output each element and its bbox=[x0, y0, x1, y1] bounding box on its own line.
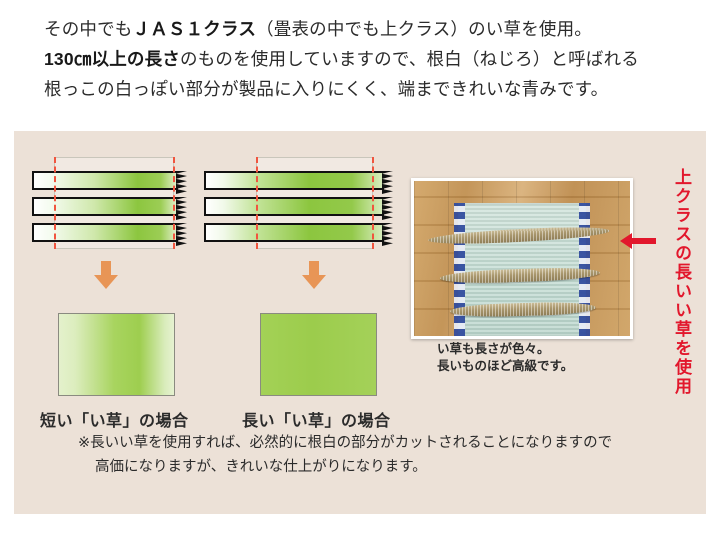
long-cut-line-right bbox=[372, 157, 374, 249]
arrow-head bbox=[94, 275, 118, 289]
short-cut-line-left bbox=[54, 157, 56, 249]
page-root: その中でもＪＡＳ１クラス（畳表の中でも上クラス）のい草を使用。 130㎝以上の長… bbox=[0, 0, 720, 534]
intro-line-2: 130㎝以上の長さのものを使用していますので、根白（ねじろ）と呼ばれる bbox=[44, 44, 684, 74]
intro-length-emphasis: 130㎝以上の長さ bbox=[44, 49, 180, 69]
short-cut-line-right bbox=[173, 157, 175, 249]
long-stalk-3 bbox=[204, 223, 384, 242]
long-case-caption: 長い「い草」の場合 bbox=[242, 407, 391, 431]
stalk-cut-tip-icon bbox=[176, 223, 187, 246]
stalk-fill bbox=[206, 199, 384, 214]
stalk-cut-tip-icon bbox=[382, 223, 393, 246]
arrow-shaft bbox=[631, 238, 656, 244]
intro-paragraph: その中でもＪＡＳ１クラス（畳表の中でも上クラス）のい草を使用。 130㎝以上の長… bbox=[44, 14, 684, 104]
long-stalk-1 bbox=[204, 171, 384, 190]
arrow-head bbox=[302, 275, 326, 289]
photo-note: い草も長さが色々。 長いものほど高級です。 bbox=[437, 341, 573, 375]
long-result-tatami bbox=[260, 313, 377, 396]
stalk-cut-tip-icon bbox=[176, 171, 187, 194]
footnote-line-2: 高価になりますが、きれいな仕上がりになります。 bbox=[78, 455, 678, 479]
intro-line-3: 根っこの白っぽい部分が製品に入りにくく、端まできれいな青みです。 bbox=[44, 74, 684, 104]
arrow-head bbox=[620, 233, 632, 249]
intro-line1-part3: （畳表の中でも上クラス）のい草を使用。 bbox=[256, 19, 592, 39]
short-case-caption: 短い「い草」の場合 bbox=[40, 407, 189, 431]
stalk-fill bbox=[206, 225, 384, 240]
stalk-fill bbox=[206, 173, 384, 188]
stalk-cut-tip-icon bbox=[382, 197, 393, 220]
footnote-line-1: ※長いい草を使用すれば、必然的に根白の部分がカットされることになりますので bbox=[78, 431, 678, 455]
tatami-border-left bbox=[454, 203, 465, 336]
intro-line1-part1: その中でも bbox=[44, 19, 133, 39]
vertical-highlight-text: 上クラスの長いい草を使用 bbox=[673, 168, 690, 396]
intro-line-1: その中でもＪＡＳ１クラス（畳表の中でも上クラス）のい草を使用。 bbox=[44, 14, 684, 44]
intro-line2-part2: のものを使用していますので、根白（ねじろ）と呼ばれる bbox=[180, 49, 639, 69]
illustration-panel: 短い「い草」の場合 長い「い草」の bbox=[14, 131, 706, 514]
intro-jas-class-emphasis: ＪＡＳ１クラス bbox=[133, 19, 257, 39]
stalk-cut-tip-icon bbox=[176, 197, 187, 220]
stalk-cut-tip-icon bbox=[382, 171, 393, 194]
long-stalk-2 bbox=[204, 197, 384, 216]
photo-note-line-2: 長いものほど高級です。 bbox=[437, 358, 573, 375]
igusa-bundles-photo bbox=[411, 178, 633, 339]
footnote: ※長いい草を使用すれば、必然的に根白の部分がカットされることになりますので 高価… bbox=[78, 431, 678, 479]
photo-callout-arrow-icon bbox=[620, 233, 656, 249]
photo-note-line-1: い草も長さが色々。 bbox=[437, 341, 573, 358]
short-result-tatami bbox=[58, 313, 175, 396]
long-cut-line-left bbox=[256, 157, 258, 249]
